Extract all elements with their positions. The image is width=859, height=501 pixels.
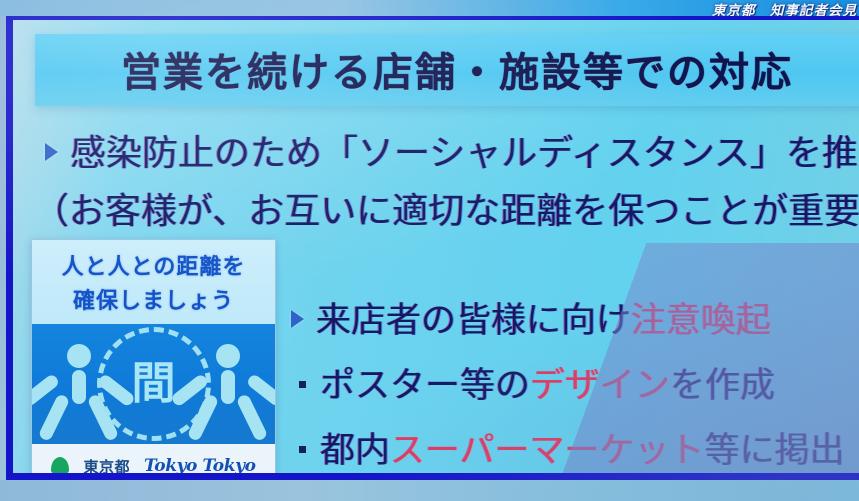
wall-below-screen — [0, 480, 859, 501]
person-figure-right-icon — [195, 344, 261, 440]
bullet-row-1: 感染防止のため「ソーシャルディスタンス」を推進 — [45, 124, 859, 176]
broadcast-caption: 東京都 知事記者会見 — [712, 0, 857, 16]
bullet-row-3: 来店者の皆様に向け 注意喚起 — [291, 292, 771, 343]
slide-title: 営業を続ける店舗・施設等での対応 — [121, 40, 793, 98]
tokyo-tokyo-logo: Tokyo Tokyo — [144, 456, 256, 476]
person-torso — [72, 370, 86, 404]
dot-bullet-icon — [299, 381, 306, 388]
broadcast-header-strip: 東京都 知事記者会見 — [0, 0, 859, 16]
slide-title-band: 営業を続ける店舗・施設等での対応 — [35, 34, 859, 106]
bullet-5-text-b: 等に掲出 — [705, 422, 845, 473]
person-torso — [221, 370, 235, 404]
bullet-4-text-b: を作成 — [670, 357, 775, 408]
bullet-5-text-a: 都内 — [320, 422, 390, 473]
poster-headline-line-1: 人と人との距離を — [62, 249, 246, 281]
presentation-slide: 営業を続ける店舗・施設等での対応 感染防止のため「ソーシャルディスタンス」を推進… — [6, 14, 859, 480]
bullet-row-5: 都内 スーパーマーケット 等に掲出 — [299, 422, 845, 473]
triangle-bullet-icon — [45, 143, 58, 161]
bullet-5-accent: スーパーマーケット — [390, 422, 705, 473]
person-head — [216, 344, 240, 368]
bullet-3-accent: 注意喚起 — [631, 292, 771, 343]
social-distance-poster: 人と人との距離を 確保しましょう 間 — [31, 239, 276, 480]
poster-headline-line-2: 確保しましょう — [73, 283, 234, 315]
ginkgo-leaf-icon — [51, 457, 69, 475]
bullet-4-accent: デザイン — [530, 357, 670, 408]
person-leg-left — [38, 393, 71, 442]
bullet-2-text: （お客様が、お互いに適切な距離を保つことが重要） — [33, 182, 859, 234]
ring-kanji-label: 間 — [132, 362, 176, 406]
poster-footer-logos: 東京都 Tokyo Tokyo — [32, 444, 275, 480]
dot-bullet-icon — [299, 446, 306, 453]
bullet-3-text: 来店者の皆様に向け — [316, 292, 631, 343]
poster-illustration: 間 — [32, 324, 275, 444]
tokyo-government-label: 東京都 — [83, 456, 130, 477]
triangle-bullet-icon — [291, 310, 304, 328]
person-head — [67, 344, 91, 368]
bullet-4-text-a: ポスター等の — [320, 357, 530, 408]
bullet-row-2: （お客様が、お互いに適切な距離を保つことが重要） — [33, 182, 859, 234]
broadcast-screen: 営業を続ける店舗・施設等での対応 感染防止のため「ソーシャルディスタンス」を推進… — [0, 0, 859, 501]
bullet-1-text: 感染防止のため「ソーシャルディスタンス」を推進 — [70, 124, 859, 176]
bullet-row-4: ポスター等の デザイン を作成 — [299, 357, 775, 408]
person-leg-right — [236, 393, 269, 442]
poster-headline-area: 人と人との距離を 確保しましょう — [32, 240, 275, 324]
